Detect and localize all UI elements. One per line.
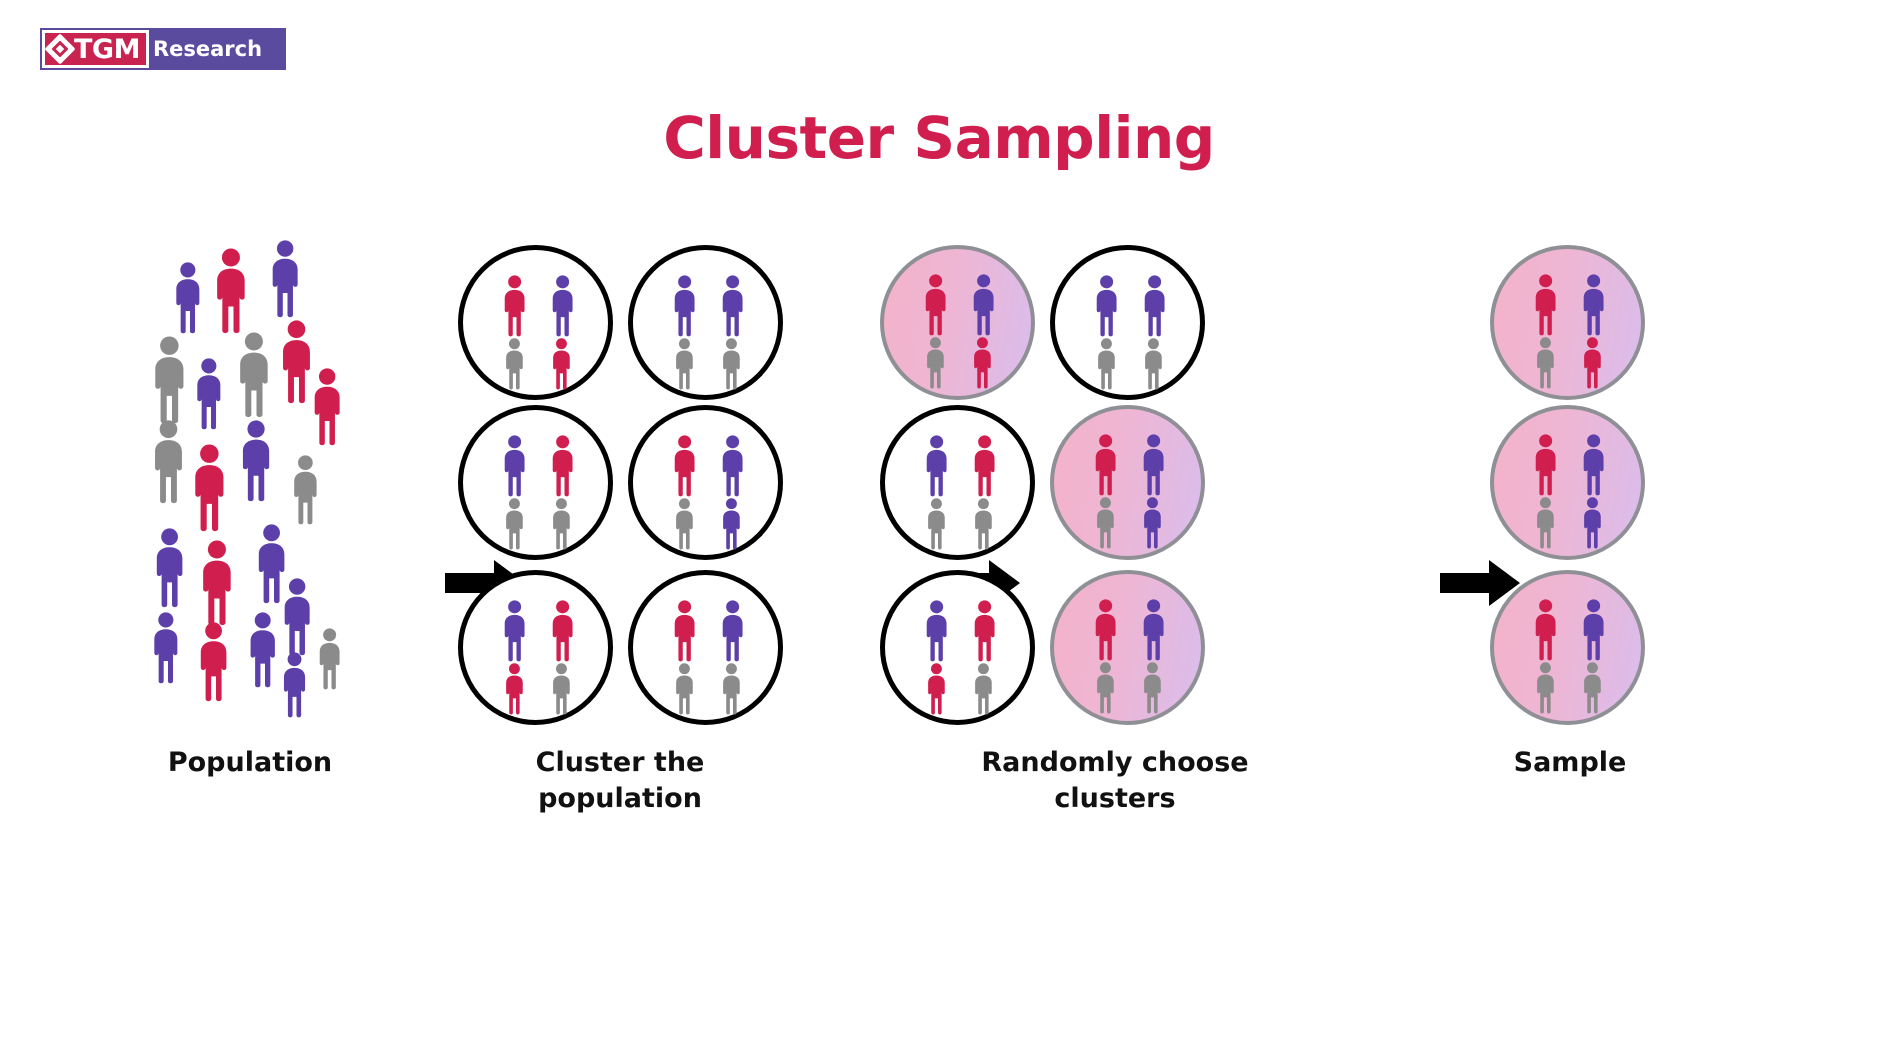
- sample-cluster-0-person-1: [1580, 274, 1607, 336]
- population-person-17: [196, 622, 231, 702]
- cluster-1-person-0: [671, 275, 698, 337]
- cluster-2-person-0: [501, 435, 528, 497]
- chosen-cluster-2[interactable]: [880, 405, 1035, 560]
- cluster-2[interactable]: [458, 405, 613, 560]
- population-person-18: [246, 612, 279, 688]
- chosen-cluster-0-person-1: [970, 274, 997, 336]
- chosen-cluster-5-person-0: [1092, 599, 1119, 661]
- population-person-16: [150, 612, 182, 684]
- cluster-0-person-2: [503, 338, 526, 390]
- chosen-cluster-5[interactable]: [1050, 570, 1205, 725]
- cluster-4-person-1: [549, 600, 576, 662]
- cluster-3[interactable]: [628, 405, 783, 560]
- sample-cluster-1-person-3: [1581, 497, 1604, 549]
- chosen-cluster-3-person-0: [1092, 434, 1119, 496]
- population-person-7: [310, 368, 344, 446]
- chosen-cluster-0-person-2: [924, 337, 947, 389]
- population-person-1: [212, 248, 250, 334]
- chosen-cluster-4-person-0: [923, 600, 950, 662]
- population-group: [150, 240, 400, 720]
- chosen-cluster-2-person-0: [923, 435, 950, 497]
- sample-cluster-2-person-1: [1580, 599, 1607, 661]
- cluster-3-person-3: [720, 498, 743, 550]
- population-person-12: [152, 528, 187, 608]
- sample-cluster-1[interactable]: [1490, 405, 1645, 560]
- chosen-cluster-4-person-3: [972, 663, 995, 715]
- population-person-20: [316, 628, 343, 690]
- chosen-cluster-2-person-2: [925, 498, 948, 550]
- sample-cluster-1-person-0: [1532, 434, 1559, 496]
- sample-cluster-2[interactable]: [1490, 570, 1645, 725]
- label-randomly-choose-clusters: Randomly choose clusters: [925, 745, 1305, 818]
- cluster-5-person-3: [720, 663, 743, 715]
- cluster-5-person-1: [719, 600, 746, 662]
- cluster-2-person-1: [549, 435, 576, 497]
- chosen-cluster-4[interactable]: [880, 570, 1035, 725]
- population-person-3: [150, 336, 189, 424]
- chosen-cluster-3[interactable]: [1050, 405, 1205, 560]
- chosen-cluster-4-person-1: [971, 600, 998, 662]
- chosen-cluster-3-person-1: [1140, 434, 1167, 496]
- chosen-cluster-0-person-0: [922, 274, 949, 336]
- chosen-cluster-5-person-3: [1141, 662, 1164, 714]
- population-person-15: [280, 578, 314, 656]
- chosen-cluster-2-person-3: [972, 498, 995, 550]
- chosen-cluster-5-person-2: [1094, 662, 1117, 714]
- cluster-1-person-2: [673, 338, 696, 390]
- sample-cluster-0[interactable]: [1490, 245, 1645, 400]
- chosen-cluster-4-person-2: [925, 663, 948, 715]
- chosen-cluster-1-person-3: [1142, 338, 1165, 390]
- population-person-13: [198, 540, 236, 626]
- cluster-5-person-2: [673, 663, 696, 715]
- sample-cluster-0-person-2: [1534, 337, 1557, 389]
- chosen-cluster-2-person-1: [971, 435, 998, 497]
- population-person-9: [190, 444, 229, 532]
- chosen-cluster-1-person-2: [1095, 338, 1118, 390]
- population-person-4: [193, 358, 225, 430]
- chosen-cluster-1[interactable]: [1050, 245, 1205, 400]
- cluster-3-person-1: [719, 435, 746, 497]
- diagram-stage: Population Cluster the population Random…: [0, 0, 1878, 1056]
- cluster-1-person-1: [719, 275, 746, 337]
- population-person-10: [238, 420, 274, 502]
- sample-cluster-2-person-3: [1581, 662, 1604, 714]
- population-person-8: [150, 420, 187, 504]
- sample-cluster-0-person-0: [1532, 274, 1559, 336]
- cluster-0-person-0: [501, 275, 528, 337]
- sample-cluster-2-person-0: [1532, 599, 1559, 661]
- cluster-2-person-3: [550, 498, 573, 550]
- chosen-cluster-0-person-3: [971, 337, 994, 389]
- cluster-4-person-2: [503, 663, 526, 715]
- chosen-cluster-3-person-3: [1141, 497, 1164, 549]
- population-person-0: [172, 262, 204, 334]
- cluster-4[interactable]: [458, 570, 613, 725]
- chosen-cluster-3-person-2: [1094, 497, 1117, 549]
- sample-cluster-1-person-1: [1580, 434, 1607, 496]
- population-person-19: [280, 652, 309, 718]
- sample-cluster-0-person-3: [1581, 337, 1604, 389]
- sample-cluster-1-person-2: [1534, 497, 1557, 549]
- cluster-1[interactable]: [628, 245, 783, 400]
- cluster-0-person-3: [550, 338, 573, 390]
- cluster-2-person-2: [503, 498, 526, 550]
- population-person-5: [235, 332, 273, 418]
- label-sample: Sample: [1410, 745, 1730, 781]
- population-person-2: [268, 240, 302, 318]
- label-cluster-the-population: Cluster the population: [460, 745, 780, 818]
- chosen-cluster-0[interactable]: [880, 245, 1035, 400]
- cluster-0[interactable]: [458, 245, 613, 400]
- chosen-cluster-1-person-1: [1141, 275, 1168, 337]
- label-population: Population: [90, 745, 410, 781]
- cluster-3-person-2: [673, 498, 696, 550]
- cluster-5[interactable]: [628, 570, 783, 725]
- cluster-3-person-0: [671, 435, 698, 497]
- cluster-4-person-3: [550, 663, 573, 715]
- sample-cluster-2-person-2: [1534, 662, 1557, 714]
- chosen-cluster-5-person-1: [1140, 599, 1167, 661]
- chosen-cluster-1-person-0: [1093, 275, 1120, 337]
- cluster-5-person-0: [671, 600, 698, 662]
- cluster-0-person-1: [549, 275, 576, 337]
- cluster-1-person-3: [720, 338, 743, 390]
- population-person-11: [290, 455, 321, 525]
- cluster-4-person-0: [501, 600, 528, 662]
